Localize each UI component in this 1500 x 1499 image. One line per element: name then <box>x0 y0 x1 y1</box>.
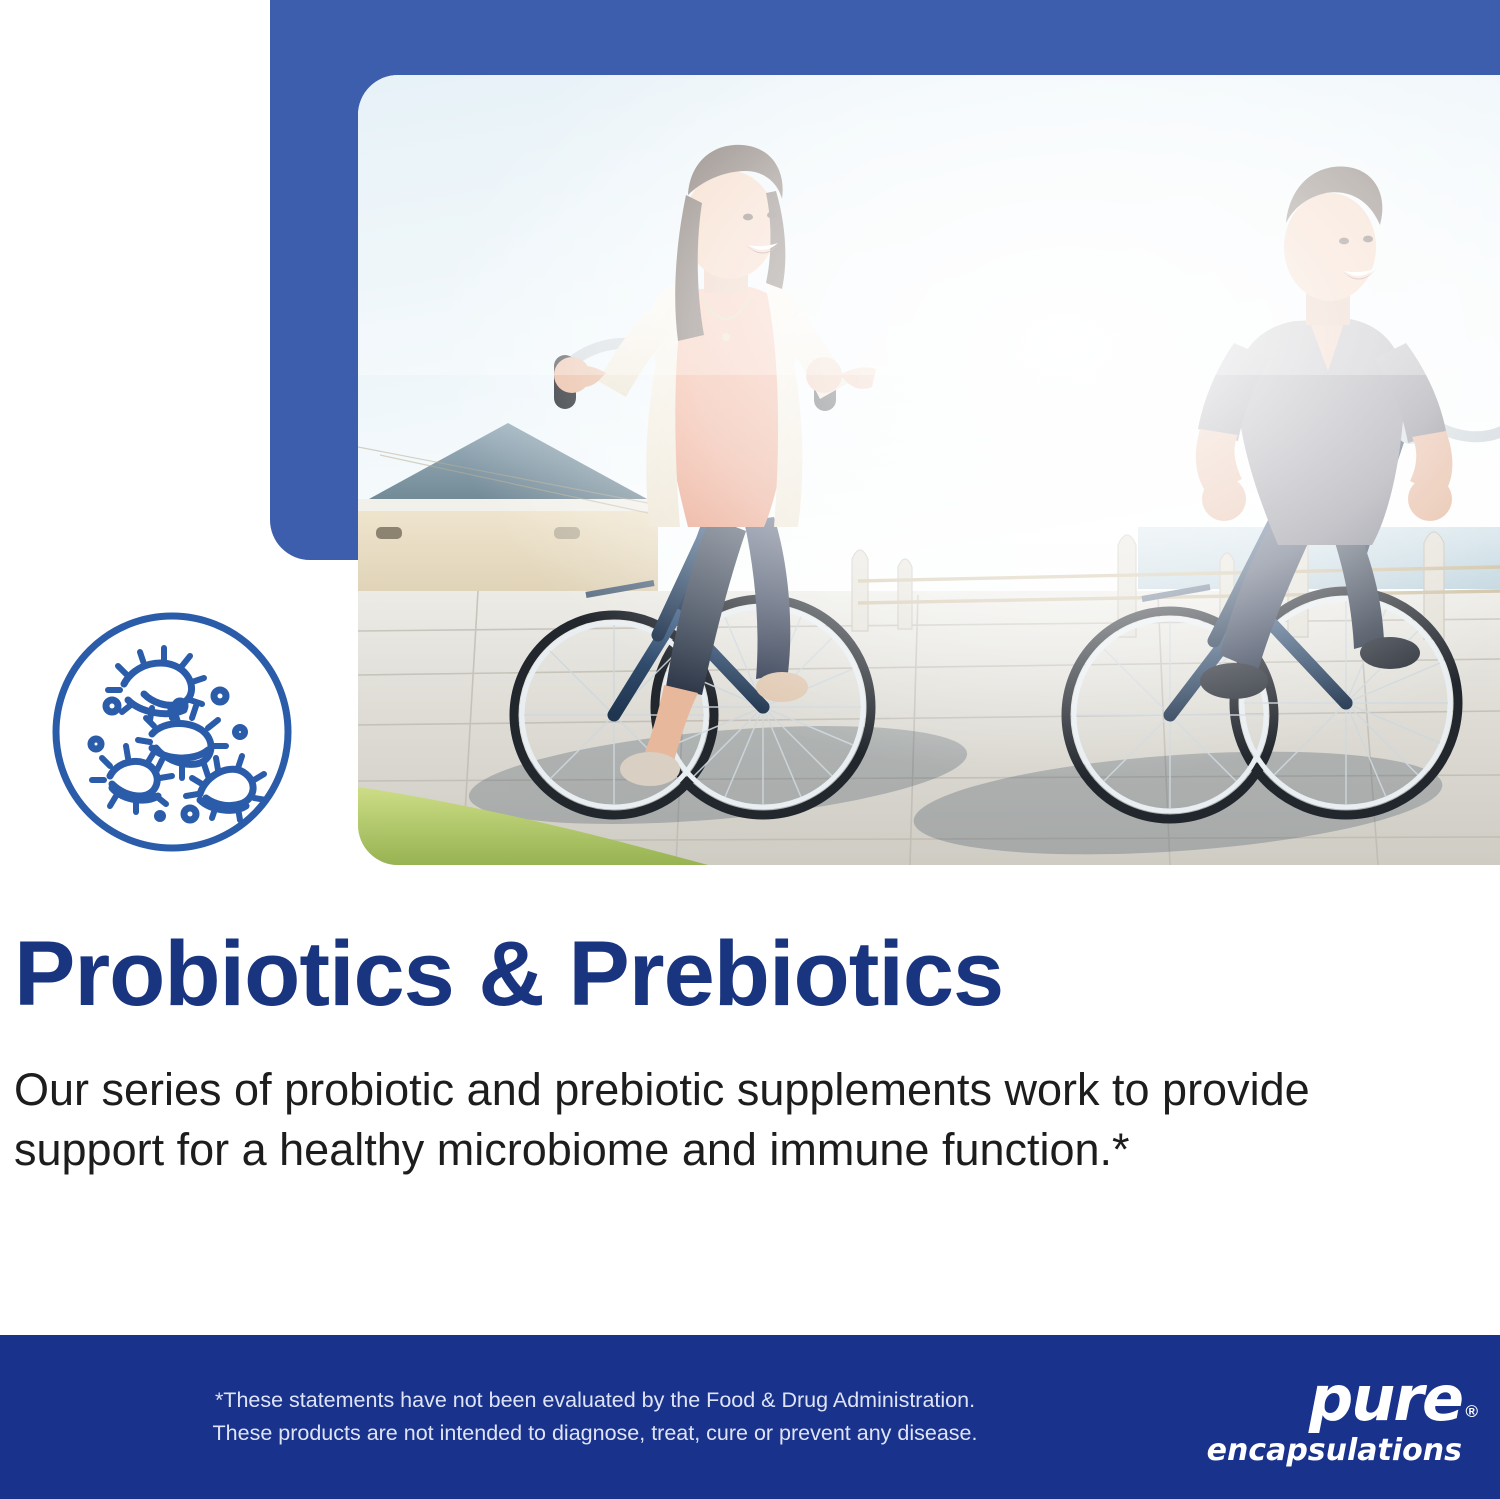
microbe-icon-svg <box>48 608 296 856</box>
text-block: Probiotics & Prebiotics Our series of pr… <box>14 925 1454 1180</box>
hero-photo-illustration <box>358 75 1500 865</box>
fda-disclaimer-line-1: *These statements have not been evaluate… <box>40 1384 1150 1417</box>
page-description: Our series of probiotic and prebiotic su… <box>14 1060 1414 1180</box>
microbe-circle-icon <box>48 608 296 856</box>
pure-encapsulations-logo: pure encapsulations ® <box>1170 1368 1500 1466</box>
footer-band: *These statements have not been evaluate… <box>0 1335 1500 1499</box>
logo-wordmark-secondary: encapsulations <box>1207 1436 1462 1466</box>
hero-photo <box>358 75 1500 865</box>
fda-disclaimer: *These statements have not been evaluate… <box>0 1384 1170 1451</box>
decorative-blue-panel-bleed <box>900 0 1500 75</box>
fda-disclaimer-line-2: These products are not intended to diagn… <box>40 1417 1150 1450</box>
page-title: Probiotics & Prebiotics <box>14 925 1454 1024</box>
registered-trademark-icon: ® <box>1465 1403 1478 1420</box>
logo-wordmark-primary: pure <box>1309 1368 1462 1430</box>
